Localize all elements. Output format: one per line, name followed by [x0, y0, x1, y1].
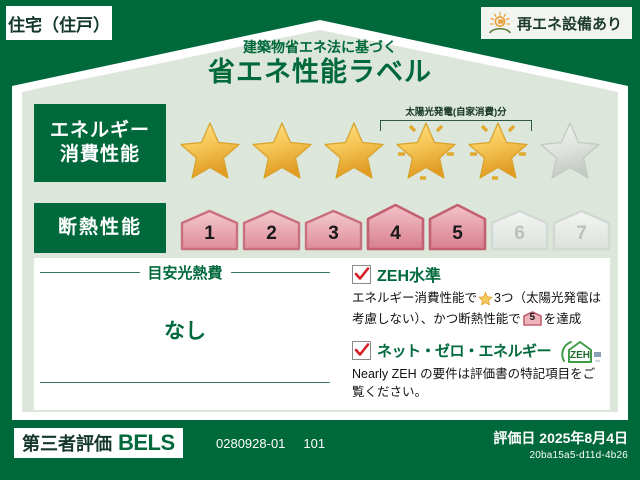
stars-row [176, 114, 604, 180]
insulation-performance-label-box: 断熱性能 [34, 203, 166, 253]
grade-number: 3 [328, 223, 339, 251]
grade-number: 2 [266, 223, 277, 251]
divider-right [231, 272, 331, 273]
bels-number: 0280928-01 [216, 436, 285, 451]
svg-text:ZEH: ZEH [570, 350, 590, 361]
building-type-chip: 住宅（住戸） [6, 6, 112, 40]
evaluation-date-label: 評価日 [493, 430, 535, 446]
grade-badge-2: 2 [242, 209, 301, 251]
zeh-standard-item: ZEH水準 エネルギー消費性能で3つ（太陽光発電は考慮しない）、かつ断熱性能で5… [352, 262, 602, 328]
bels-unit-number: 101 [303, 436, 325, 451]
net-zero-energy-item: ネット・ゼロ・エネルギー ZEH net Nearly ZEH の要件は評価書の… [352, 338, 602, 401]
grade-number: 6 [514, 223, 525, 251]
energy-performance-label-box: エネルギー 消費性能 [34, 104, 166, 182]
energy-performance-label: 住宅（住戸） 再エネ設備あり 建築物省エネ法に基づく [0, 0, 640, 480]
insulation-performance-row: 断熱性能 1 [34, 203, 610, 253]
utility-cost-header: 目安光熱費 [40, 262, 330, 283]
grade-badge-inline: 5 [523, 311, 542, 326]
star-icon-solar [392, 114, 460, 180]
grade-badge-inline-number: 5 [523, 311, 542, 326]
grade-number: 7 [576, 223, 587, 251]
star-icon-solar [464, 114, 532, 180]
star-icon [176, 114, 244, 180]
grade-badge-5: 5 [428, 203, 487, 251]
zeh-standard-description: エネルギー消費性能で3つ（太陽光発電は考慮しない）、かつ断熱性能で5を達成 [352, 289, 602, 328]
zeh-standard-title: ZEH水準 [377, 262, 441, 286]
footer-bar: 第三者評価 BELS 0280928-01101 評価日 2025年8月4日 2… [0, 420, 640, 480]
utility-cost-block: 目安光熱費 なし [40, 262, 330, 345]
bels-number-group: 0280928-01101 [216, 436, 325, 451]
title-subtitle: 建築物省エネ法に基づく [0, 40, 640, 55]
third-party-eval-label: 第三者評価 [22, 430, 112, 456]
zeh-block: ZEH水準 エネルギー消費性能で3つ（太陽光発電は考慮しない）、かつ断熱性能で5… [352, 262, 602, 406]
title-main: 省エネ性能ラベル [0, 57, 640, 88]
checkbox-checked-icon[interactable] [352, 341, 371, 360]
building-type-label: 住宅（住戸） [8, 11, 110, 36]
renewable-badge-label: 再エネ設備あり [517, 13, 622, 34]
star-icon [320, 114, 388, 180]
document-id: 20ba15a5-d11d-4b26 [493, 450, 628, 461]
grade-badge-4: 4 [366, 203, 425, 251]
divider-left [40, 272, 140, 273]
net-zero-energy-description: Nearly ZEH の要件は評価書の特記項目をご覧ください。 [352, 365, 602, 401]
energy-label-line1: エネルギー [50, 119, 150, 143]
energy-label-line2: 消費性能 [60, 143, 140, 167]
evaluation-date-value: 2025年8月4日 [539, 430, 628, 446]
svg-text:net: net [595, 359, 600, 363]
bels-logo-text: BELS [118, 430, 175, 456]
grade-badge-3: 3 [304, 209, 363, 251]
utility-cost-title: 目安光熱費 [148, 262, 223, 283]
bels-chip: 第三者評価 BELS [14, 428, 183, 458]
energy-performance-row: エネルギー 消費性能 太陽光発電(自家消費)分 [34, 104, 610, 182]
grade-number: 1 [204, 223, 215, 251]
renewable-equipment-badge: 再エネ設備あり [481, 7, 632, 39]
grade-badge-6: 6 [490, 209, 549, 251]
checkbox-checked-icon[interactable] [352, 265, 371, 284]
sun-icon [487, 11, 513, 35]
label-title: 建築物省エネ法に基づく 省エネ性能ラベル [0, 40, 640, 88]
zeh-house-logo-icon: ZEH net [559, 338, 599, 362]
stars-area: 太陽光発電(自家消費)分 [166, 104, 610, 182]
utility-cost-bottom-divider [40, 382, 330, 383]
evaluation-date-line: 評価日 2025年8月4日 [493, 428, 628, 448]
net-zero-energy-header: ネット・ゼロ・エネルギー ZEH net [352, 338, 602, 362]
zeh-desc-part3: を達成 [544, 312, 582, 326]
grade-badge-7: 7 [552, 209, 611, 251]
grades-area: 1 2 3 [166, 203, 610, 253]
star-icon [248, 114, 316, 180]
grade-number: 4 [390, 223, 401, 251]
net-zero-energy-title: ネット・ゼロ・エネルギー [377, 340, 551, 361]
star-icon-inline [478, 294, 493, 308]
star-icon-empty [536, 114, 604, 180]
evaluation-date-group: 評価日 2025年8月4日 20ba15a5-d11d-4b26 [493, 428, 628, 461]
grades-row: 1 2 3 [180, 203, 611, 251]
zeh-standard-header: ZEH水準 [352, 262, 602, 286]
insulation-label: 断熱性能 [58, 216, 142, 240]
zeh-desc-part1: エネルギー消費性能で [352, 291, 477, 305]
grade-badge-1: 1 [180, 209, 239, 251]
utility-cost-value: なし [40, 315, 330, 345]
grade-number: 5 [452, 223, 463, 251]
